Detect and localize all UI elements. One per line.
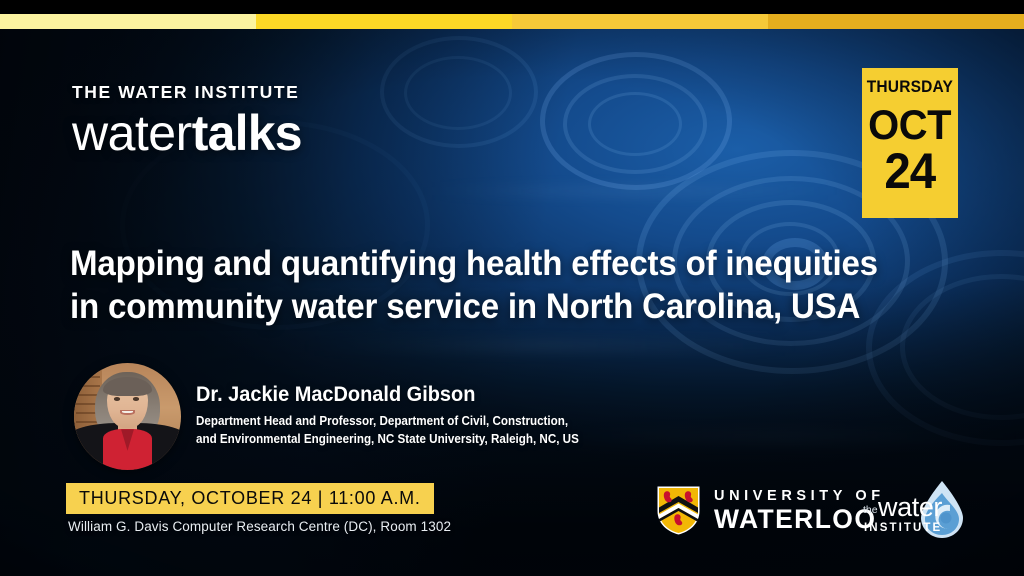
date-badge: THURSDAY OCT 24 xyxy=(862,68,958,218)
brand-kicker: THE WATER INSTITUTE xyxy=(72,84,302,102)
water-institute-the: the xyxy=(863,505,878,516)
badge-day-number: 24 xyxy=(885,148,936,196)
badge-day-of-week: THURSDAY xyxy=(867,79,953,96)
talk-title: Mapping and quantifying health effects o… xyxy=(70,242,826,328)
stripe-segment-2 xyxy=(256,14,512,29)
brand-wordmark: watertalks xyxy=(72,108,302,158)
talk-title-line-2: in community water service in North Caro… xyxy=(70,285,826,328)
stripe-segment-1 xyxy=(0,14,256,29)
water-institute-logo: the water INSTITUTE xyxy=(861,483,991,541)
speaker-name: Dr. Jackie MacDonald Gibson xyxy=(196,383,475,407)
event-venue: William G. Davis Computer Research Centr… xyxy=(68,519,451,534)
watertalks-brand-lockup: THE WATER INSTITUTE watertalks xyxy=(72,84,302,158)
waterloo-shield-crest-icon xyxy=(656,485,701,536)
stripe-segment-4 xyxy=(768,14,1024,29)
talk-title-line-1: Mapping and quantifying health effects o… xyxy=(70,242,826,285)
top-black-bar xyxy=(0,0,1024,14)
university-of-waterloo-logo: UNIVERSITY OF WATERLOO xyxy=(656,485,885,536)
wordmark-talks: talks xyxy=(192,105,302,161)
event-datetime-text: THURSDAY, OCTOBER 24 | 11:00 A.M. xyxy=(79,489,421,507)
wordmark-water: water xyxy=(72,105,192,161)
badge-month: OCT xyxy=(869,105,952,145)
waterloo-line-1: UNIVERSITY OF xyxy=(714,489,885,504)
speaker-affiliation-line-1: Department Head and Professor, Departmen… xyxy=(196,413,579,431)
speaker-headshot xyxy=(74,363,181,470)
waterloo-wordmark: UNIVERSITY OF WATERLOO xyxy=(714,489,885,533)
stripe-segment-3 xyxy=(512,14,768,29)
speaker-affiliation-line-2: and Environmental Engineering, NC State … xyxy=(196,431,579,449)
waterloo-line-2: WATERLOO xyxy=(714,506,885,533)
event-datetime-banner: THURSDAY, OCTOBER 24 | 11:00 A.M. xyxy=(66,483,434,514)
speaker-affiliation: Department Head and Professor, Departmen… xyxy=(196,413,579,449)
water-institute-institute: INSTITUTE xyxy=(864,523,942,535)
water-institute-water: water xyxy=(878,494,942,521)
top-color-stripe xyxy=(0,14,1024,29)
watertalks-event-poster: THE WATER INSTITUTE watertalks THURSDAY … xyxy=(0,0,1024,576)
